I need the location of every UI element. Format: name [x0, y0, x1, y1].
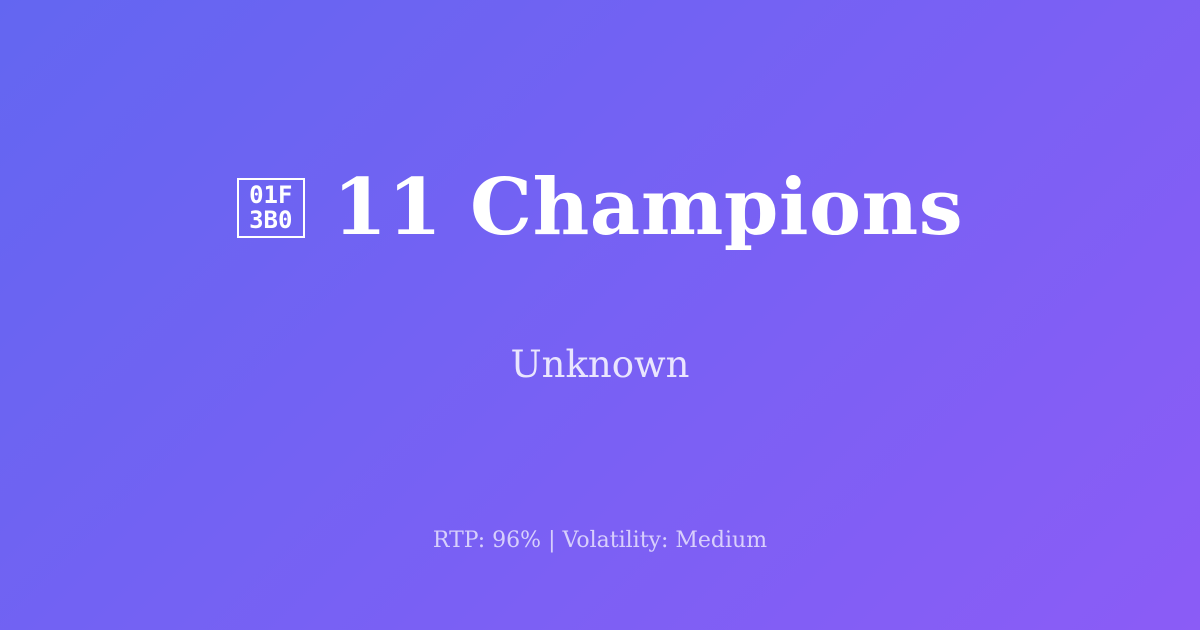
tofu-codepoint-line-2: 3B0 [249, 208, 292, 233]
title-row: 01F 3B0 11 Champions [237, 114, 963, 300]
tofu-codepoint-line-1: 01F [249, 183, 292, 208]
slot-machine-emoji-tofu-icon: 01F 3B0 [237, 178, 305, 238]
game-subtitle: Unknown [510, 345, 689, 386]
game-meta-line: RTP: 96% | Volatility: Medium [0, 528, 1200, 554]
hero-center-stack: 01F 3B0 11 Champions Unknown [0, 0, 1200, 500]
game-title: 11 Champions [333, 167, 963, 249]
og-share-card: 01F 3B0 11 Champions Unknown RTP: 96% | … [0, 0, 1200, 630]
